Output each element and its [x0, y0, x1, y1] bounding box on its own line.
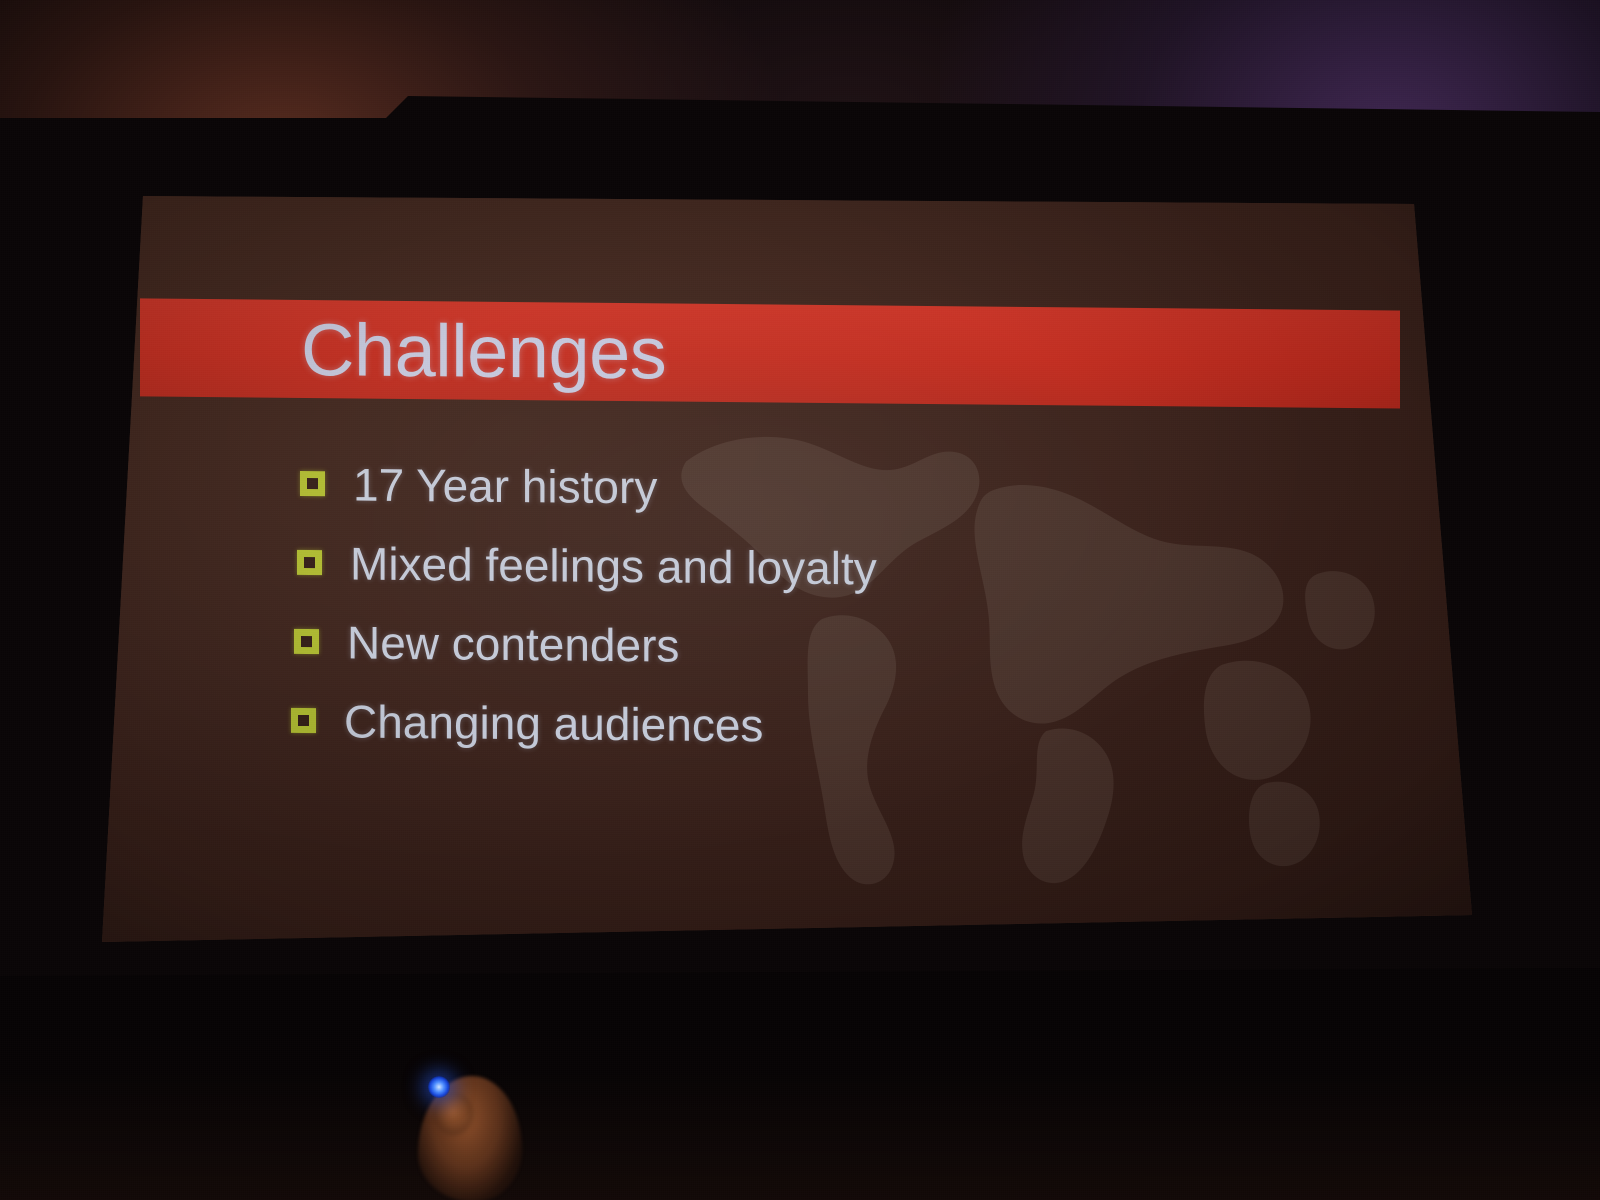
- list-item: Changing audiences: [291, 681, 1291, 770]
- square-bullet-icon: [294, 629, 319, 654]
- stage-floor-wash: [0, 990, 1600, 1200]
- presentation-remote-led-icon: [428, 1076, 450, 1098]
- square-bullet-icon: [291, 708, 316, 733]
- list-item-label: New contenders: [347, 615, 679, 672]
- slide-canvas: Challenges 17 Year history Mixed feeling…: [96, 186, 1486, 952]
- list-item-label: Changing audiences: [344, 694, 763, 752]
- square-bullet-icon: [297, 550, 322, 575]
- presenter-thumb: [432, 1092, 474, 1136]
- list-item: Mixed feelings and loyalty: [297, 523, 1297, 612]
- bullet-list: 17 Year history Mixed feelings and loyal…: [292, 444, 1292, 770]
- list-item: New contenders: [294, 602, 1294, 691]
- square-bullet-icon: [300, 471, 325, 496]
- projected-slide: Challenges 17 Year history Mixed feeling…: [96, 186, 1486, 952]
- photo-scene: Challenges 17 Year history Mixed feeling…: [0, 0, 1600, 1200]
- list-item: 17 Year history: [300, 444, 1300, 533]
- list-item-label: 17 Year history: [353, 457, 657, 514]
- list-item-label: Mixed feelings and loyalty: [350, 536, 877, 595]
- page-title: Challenges: [301, 305, 666, 399]
